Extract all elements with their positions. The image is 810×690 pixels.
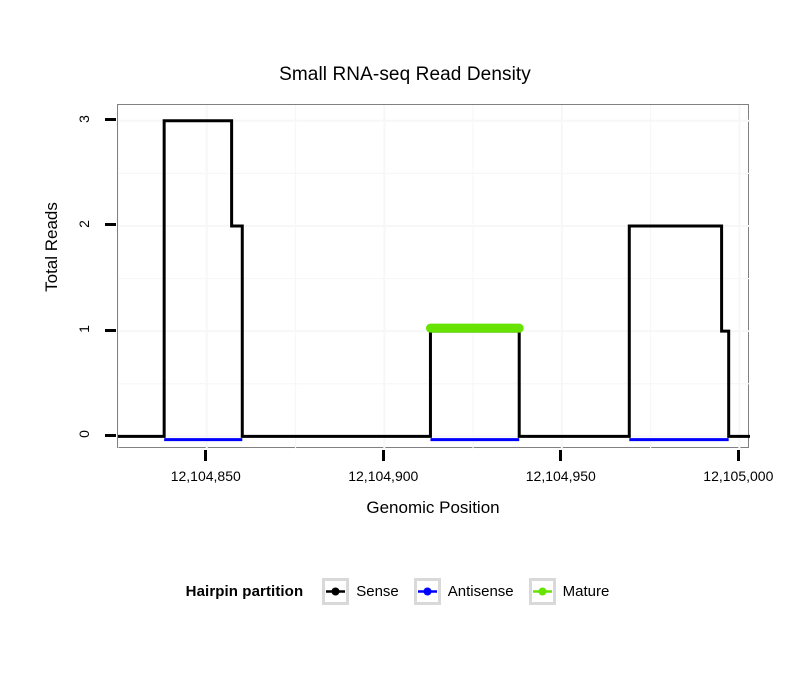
legend-key-icon bbox=[322, 578, 349, 605]
chart-figure: Small RNA-seq Read Density Total Reads 0… bbox=[0, 0, 810, 690]
legend-label: Antisense bbox=[448, 583, 514, 600]
legend-title: Hairpin partition bbox=[186, 583, 304, 600]
x-tick-label: 12,104,850 bbox=[136, 468, 276, 484]
y-tick-mark bbox=[105, 118, 116, 121]
plot-panel bbox=[117, 104, 749, 448]
y-tick-label: 2 bbox=[76, 209, 92, 239]
legend-key-icon bbox=[414, 578, 441, 605]
plot-area bbox=[118, 105, 750, 449]
y-tick-mark bbox=[105, 434, 116, 437]
legend-item-mature[interactable]: Mature bbox=[529, 578, 610, 605]
y-tick-label: 0 bbox=[76, 419, 92, 449]
y-axis-label: Total Reads bbox=[42, 177, 62, 317]
y-tick-mark bbox=[105, 329, 116, 332]
legend-item-antisense[interactable]: Antisense bbox=[414, 578, 514, 605]
y-tick-mark bbox=[105, 223, 116, 226]
legend-key-icon bbox=[529, 578, 556, 605]
y-tick-label: 3 bbox=[76, 104, 92, 134]
x-tick-mark bbox=[559, 450, 562, 461]
x-tick-label: 12,104,900 bbox=[313, 468, 453, 484]
x-tick-label: 12,105,000 bbox=[668, 468, 808, 484]
x-tick-mark bbox=[737, 450, 740, 461]
legend-label: Mature bbox=[563, 583, 610, 600]
legend-item-sense[interactable]: Sense bbox=[322, 578, 399, 605]
x-tick-mark bbox=[204, 450, 207, 461]
legend-label: Sense bbox=[356, 583, 399, 600]
x-tick-label: 12,104,950 bbox=[491, 468, 631, 484]
legend: Hairpin partition SenseAntisenseMature bbox=[0, 578, 810, 605]
y-tick-label: 1 bbox=[76, 314, 92, 344]
chart-title: Small RNA-seq Read Density bbox=[0, 64, 810, 86]
x-axis-label: Genomic Position bbox=[117, 498, 749, 518]
x-tick-mark bbox=[382, 450, 385, 461]
